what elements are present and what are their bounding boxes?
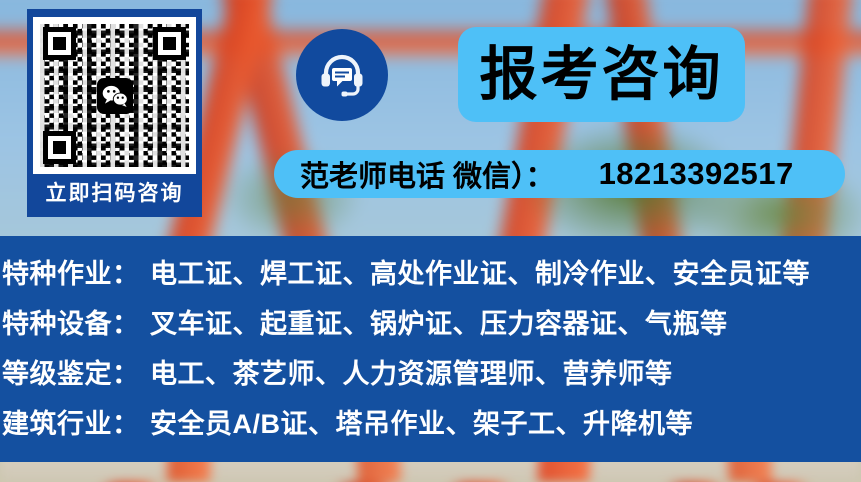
qr-code-image[interactable] (33, 17, 196, 174)
qr-caption: 立即扫码咨询 (46, 174, 184, 214)
category-name: 特种设备： (2, 302, 150, 341)
category-name: 特种作业： (2, 252, 150, 291)
category-items: 叉车证、起重证、锅炉证、压力容器证、气瓶等 (150, 302, 728, 341)
category-row-construction-industry: 建筑行业： 安全员A/B证、塔吊作业、架子工、升降机等 (0, 402, 861, 452)
headset-support-icon (296, 29, 388, 121)
qr-finder-bottom-left (43, 131, 76, 164)
promo-poster: 立即扫码咨询 报考咨询 范老师电话 微信）： 18213392517 特种作业：… (0, 0, 861, 482)
category-items: 安全员A/B证、塔吊作业、架子工、升降机等 (150, 402, 693, 441)
category-items: 电工证、焊工证、高处作业证、制冷作业、安全员证等 (150, 252, 810, 291)
category-row-special-operations: 特种作业： 电工证、焊工证、高处作业证、制冷作业、安全员证等 (0, 252, 861, 302)
qr-finder-top-right (153, 27, 186, 60)
qr-finder-top-left (43, 27, 76, 60)
qr-matrix (40, 24, 189, 167)
category-row-special-equipment: 特种设备： 叉车证、起重证、锅炉证、压力容器证、气瓶等 (0, 302, 861, 352)
qr-code-card[interactable]: 立即扫码咨询 (27, 9, 202, 217)
category-name: 建筑行业： (2, 402, 150, 441)
category-list-panel: 特种作业： 电工证、焊工证、高处作业证、制冷作业、安全员证等 特种设备： 叉车证… (0, 236, 861, 462)
category-items: 电工、茶艺师、人力资源管理师、营养师等 (150, 352, 673, 391)
category-row-grade-assessment: 等级鉴定： 电工、茶艺师、人力资源管理师、营养师等 (0, 352, 861, 402)
contact-phone-number[interactable]: 18213392517 (599, 156, 794, 192)
contact-label: 范老师电话 微信）： (300, 153, 555, 195)
contact-pill[interactable]: 范老师电话 微信）： 18213392517 (274, 150, 845, 198)
wechat-icon (97, 78, 133, 114)
title-badge-text: 报考咨询 (479, 46, 723, 104)
title-badge: 报考咨询 (458, 27, 745, 122)
category-name: 等级鉴定： (2, 352, 150, 391)
